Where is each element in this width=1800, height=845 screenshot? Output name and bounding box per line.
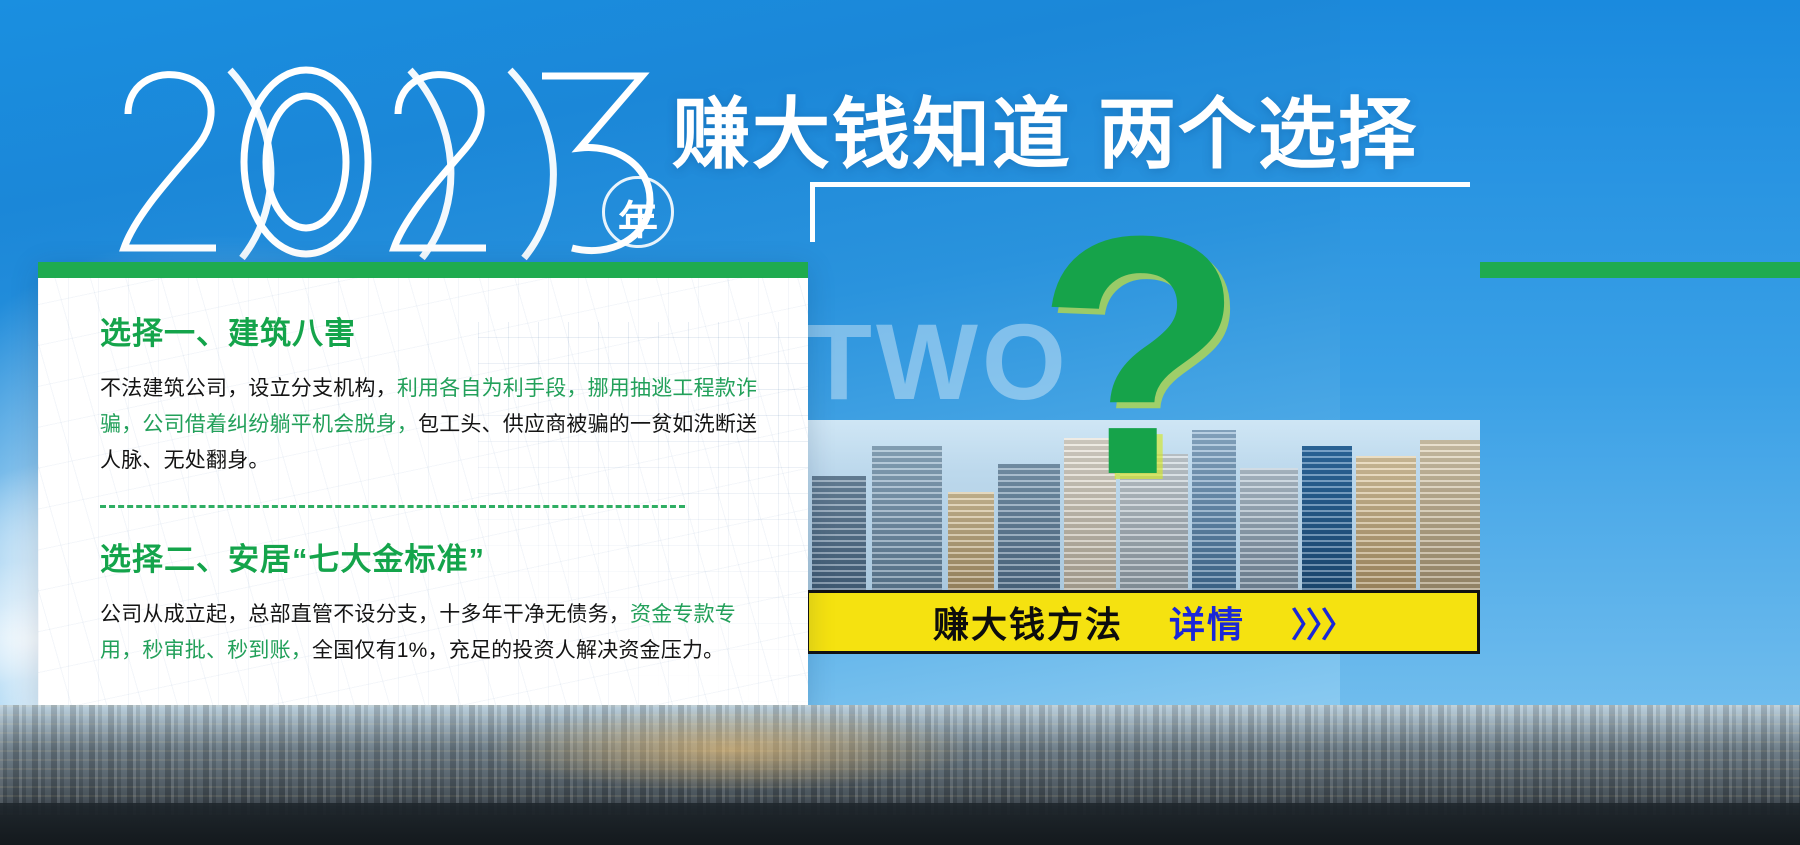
bottom-city-strip [0, 705, 1800, 845]
year-unit-label: 年 [618, 188, 659, 246]
headline-part-2: 两个选择 [1098, 90, 1418, 178]
content-card: 选择一、建筑八害 不法建筑公司，设立分支机构，利用各自为利手段，挪用抽逃工程款诈… [38, 262, 808, 714]
green-accent-tab [1480, 262, 1800, 278]
card-section-1: 选择一、建筑八害 不法建筑公司，设立分支机构，利用各自为利手段，挪用抽逃工程款诈… [100, 308, 768, 479]
s2-line2-green: 用，秒审批、秒到账， [100, 639, 312, 662]
headline-part-1: 赚大钱知道 [672, 90, 1072, 178]
s2-line1-black: 公司从成立起，总部直管不设分支，十多年干净无债务， [100, 603, 630, 626]
poster-root: 年 赚大钱知道两个选择 TWO CHOICES ? 赚大钱方法 详情 〉〉〉 [0, 0, 1800, 845]
headline-rule [810, 182, 1470, 187]
card-section-2: 选择二、安居“七大金标准” 公司从成立起，总部直管不设分支，十多年干净无债务，资… [100, 534, 768, 669]
section-2-body: 公司从成立起，总部直管不设分支，十多年干净无债务，资金专款专用，秒审批、秒到账，… [100, 597, 768, 669]
page-title: 赚大钱知道两个选择 [672, 72, 1418, 184]
s1-line1-black: 不法建筑公司，设立分支机构， [100, 377, 397, 400]
question-mark-icon: ? [1036, 212, 1244, 501]
chevron-right-triple-icon: 〉〉〉 [1291, 598, 1353, 647]
bottom-strip-glow [380, 705, 1080, 815]
section-1-body: 不法建筑公司，设立分支机构，利用各自为利手段，挪用抽逃工程款诈骗，公司借着纠纷躺… [100, 371, 768, 479]
s1-line1-green: 利用各自为利手段，挪用抽逃工程款 [397, 377, 736, 400]
bottom-strip-water [0, 803, 1800, 845]
section-2-title: 选择二、安居“七大金标准” [100, 534, 768, 579]
s2-line1-green: 资金专款专 [630, 603, 736, 626]
cta-label-method: 赚大钱方法 [933, 596, 1123, 648]
s2-line2-black: 全国仅有1%，充足的投资人解决资金压力。 [312, 639, 724, 662]
section-divider [100, 505, 685, 508]
section-1-title: 选择一、建筑八害 [100, 308, 768, 353]
cta-button[interactable]: 赚大钱方法 详情 〉〉〉 [806, 590, 1480, 654]
cta-label-details: 详情 [1169, 596, 1245, 648]
s1-line2-black: 包工头、供应商被骗的一贫如洗 [418, 413, 715, 436]
question-mark-panel: ? [806, 196, 1480, 596]
